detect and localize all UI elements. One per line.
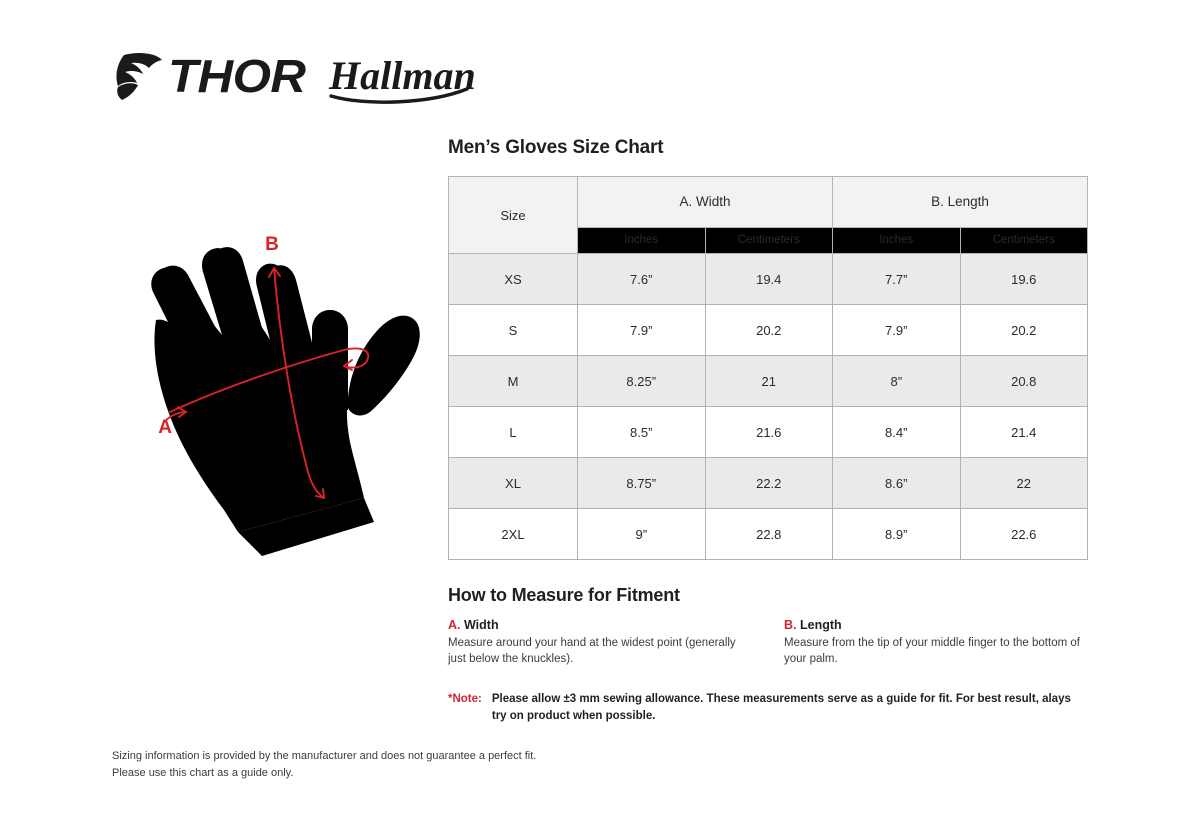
measure-letter-b: B. — [784, 618, 797, 632]
cell-length-centimeters: 20.2 — [960, 305, 1088, 356]
size-chart-panel: Men’s Gloves Size Chart Size A. Width B.… — [448, 138, 1090, 724]
cell-length-inches: 8.9” — [833, 509, 961, 560]
thor-wordmark: THOR — [168, 54, 305, 101]
measure-item-length-heading: B. Length — [784, 618, 1088, 633]
cell-size: XS — [449, 254, 578, 305]
cell-width-centimeters: 20.2 — [705, 305, 833, 356]
cell-width-centimeters: 19.4 — [705, 254, 833, 305]
thor-helmet-icon — [112, 51, 166, 103]
cell-length-inches: 7.7” — [833, 254, 961, 305]
column-header-length-inches: Inches — [833, 227, 961, 253]
column-header-width-centimeters: Centimeters — [705, 227, 833, 253]
measure-item-width-description: Measure around your hand at the widest p… — [448, 636, 752, 667]
cell-size: L — [449, 407, 578, 458]
how-to-measure-columns: A. Width Measure around your hand at the… — [448, 618, 1090, 667]
cell-length-centimeters: 19.6 — [960, 254, 1088, 305]
cell-size: XL — [449, 458, 578, 509]
cell-length-inches: 8.6” — [833, 458, 961, 509]
footer-line-1: Sizing information is provided by the ma… — [112, 748, 536, 765]
cell-width-inches: 8.5” — [578, 407, 706, 458]
cell-length-inches: 7.9” — [833, 305, 961, 356]
cell-width-centimeters: 21.6 — [705, 407, 833, 458]
column-header-width-inches: Inches — [578, 227, 706, 253]
cell-size: S — [449, 305, 578, 356]
size-chart-table: Size A. Width B. Length Inches Centimete… — [448, 176, 1088, 560]
how-to-measure-section: How to Measure for Fitment A. Width Meas… — [448, 586, 1090, 667]
table-header-row-groups: Size A. Width B. Length — [449, 177, 1088, 228]
how-to-measure-title: How to Measure for Fitment — [448, 586, 1090, 604]
cell-width-inches: 7.6” — [578, 254, 706, 305]
page-title: Men’s Gloves Size Chart — [448, 138, 1090, 157]
thor-logo: THOR — [112, 51, 291, 103]
column-header-width-group: A. Width — [578, 177, 833, 228]
hallman-logo: Hallman — [325, 49, 475, 105]
measure-letter-a: A. — [448, 618, 461, 632]
table-row: 2XL 9” 22.8 8.9” 22.6 — [449, 509, 1088, 560]
marker-label-b: B — [265, 234, 279, 255]
cell-width-centimeters: 21 — [705, 356, 833, 407]
cell-width-inches: 7.9” — [578, 305, 706, 356]
table-body: XS 7.6” 19.4 7.7” 19.6 S 7.9” 20.2 7.9” … — [449, 254, 1088, 560]
footer-disclaimer: Sizing information is provided by the ma… — [112, 748, 536, 782]
hallman-wordmark: Hallman — [328, 53, 475, 98]
cell-length-centimeters: 21.4 — [960, 407, 1088, 458]
cell-length-centimeters: 22.6 — [960, 509, 1088, 560]
cell-size: 2XL — [449, 509, 578, 560]
measure-item-width-heading: A. Width — [448, 618, 752, 633]
measure-item-width: A. Width Measure around your hand at the… — [448, 618, 752, 667]
measure-word-length: Length — [800, 618, 842, 632]
table-row: L 8.5” 21.6 8.4” 21.4 — [449, 407, 1088, 458]
table-row: XL 8.75” 22.2 8.6” 22 — [449, 458, 1088, 509]
cell-width-inches: 9” — [578, 509, 706, 560]
note-label: *Note: — [448, 691, 482, 708]
table-row: XS 7.6” 19.4 7.7” 19.6 — [449, 254, 1088, 305]
footer-line-2: Please use this chart as a guide only. — [112, 765, 536, 782]
column-header-length-group: B. Length — [833, 177, 1088, 228]
table-header: Size A. Width B. Length Inches Centimete… — [449, 177, 1088, 254]
cell-length-centimeters: 20.8 — [960, 356, 1088, 407]
marker-label-a: A — [158, 417, 172, 438]
measure-item-length-description: Measure from the tip of your middle fing… — [784, 636, 1088, 667]
cell-width-inches: 8.25” — [578, 356, 706, 407]
cell-size: M — [449, 356, 578, 407]
brand-logo-bar: THOR Hallman — [112, 46, 475, 108]
measure-word-width: Width — [464, 618, 499, 632]
cell-length-centimeters: 22 — [960, 458, 1088, 509]
cell-length-inches: 8” — [833, 356, 961, 407]
cell-length-inches: 8.4” — [833, 407, 961, 458]
table-row: M 8.25” 21 8” 20.8 — [449, 356, 1088, 407]
measure-item-length: B. Length Measure from the tip of your m… — [784, 618, 1088, 667]
note-text: Please allow ±3 mm sewing allowance. The… — [492, 691, 1082, 724]
cell-width-inches: 8.75” — [578, 458, 706, 509]
table-row: S 7.9” 20.2 7.9” 20.2 — [449, 305, 1088, 356]
hand-measurement-diagram: A B — [112, 160, 432, 560]
note-row: *Note: Please allow ±3 mm sewing allowan… — [448, 691, 1090, 724]
column-header-size: Size — [449, 177, 578, 254]
cell-width-centimeters: 22.8 — [705, 509, 833, 560]
cell-width-centimeters: 22.2 — [705, 458, 833, 509]
column-header-length-centimeters: Centimeters — [960, 227, 1088, 253]
